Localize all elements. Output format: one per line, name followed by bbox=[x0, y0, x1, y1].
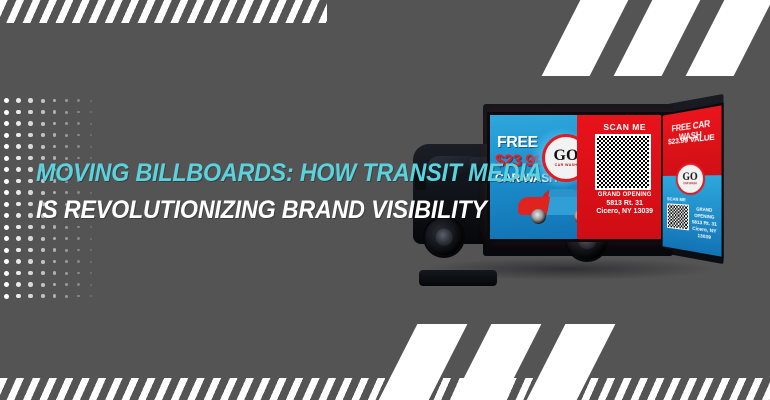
rear-address-block: GRAND OPENING 5813 Rt. 31 Cicero, NY 130… bbox=[690, 206, 719, 243]
rear-logo-subtitle-text: CAR WASH bbox=[683, 182, 697, 185]
chevron-shape-top-right-3 bbox=[686, 0, 770, 76]
rear-qr-code-icon bbox=[667, 203, 689, 230]
diagonal-stripes-top-left bbox=[0, 0, 327, 23]
billboard-address-block: GRAND OPENING 5813 Rt. 31 Cicero, NY 130… bbox=[579, 191, 670, 217]
headline-line-1: MOVING BILLBOARDS: HOW TRANSIT MEDIA bbox=[36, 158, 542, 189]
rear-logo-mark-text: GO bbox=[682, 172, 697, 182]
address-city: Cicero, NY 13039 bbox=[579, 208, 670, 217]
address-street: 5813 Rt. 31 bbox=[579, 200, 670, 209]
headline-line-2: IS REVOLUTIONIZING BRAND VISIBILITY bbox=[36, 195, 542, 226]
article-hero-banner: MOVING BILLBOARDS: HOW TRANSIT MEDIA IS … bbox=[0, 0, 770, 400]
scan-me-label: SCAN ME bbox=[577, 122, 672, 132]
truck-bumper bbox=[419, 270, 497, 286]
rear-scan-me-label: SCAN ME bbox=[667, 196, 686, 202]
grand-opening-label: GRAND OPENING bbox=[579, 191, 670, 200]
chevron-shape-top-right-2 bbox=[614, 0, 703, 76]
qr-code-icon bbox=[595, 134, 651, 190]
headline-block: MOVING BILLBOARDS: HOW TRANSIT MEDIA IS … bbox=[36, 158, 580, 226]
truck-rear-billboard-screen: FREE CAR WASH $23.99 VALUE GO CAR WASH S… bbox=[661, 103, 724, 260]
billboard-right-panel: SCAN ME GRAND OPENING 5813 Rt. 31 Cicero… bbox=[577, 115, 672, 239]
chevron-shape-top-right-1 bbox=[542, 0, 631, 76]
